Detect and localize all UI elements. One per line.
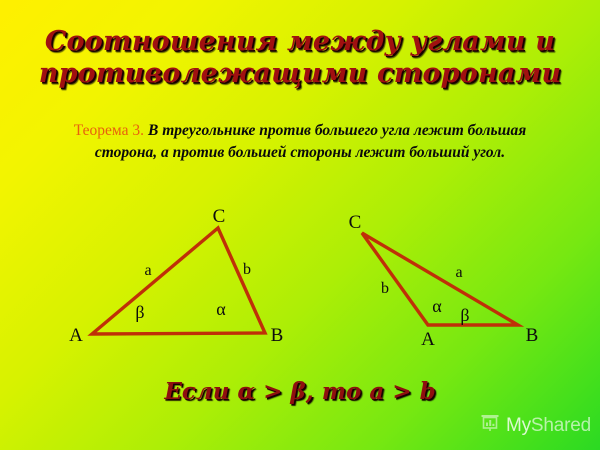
theorem-label: Теорема 3.: [74, 122, 144, 139]
myshared-watermark: MyShared: [480, 413, 591, 438]
triangle-right-side-a: a: [455, 264, 462, 281]
watermark-brand-prefix: My: [506, 415, 531, 436]
triangle-left-angle-alpha: α: [216, 299, 226, 319]
triangle-right-vertex-b: B: [526, 325, 539, 346]
triangle-left-shape: [92, 228, 265, 334]
page-title: Соотношения между углами и противолежащи…: [0, 26, 600, 90]
watermark-brand: MyShared: [506, 415, 591, 437]
triangle-left-angle-beta: β: [135, 302, 144, 322]
title-line-1: Соотношения между углами и: [0, 26, 600, 58]
triangle-left-side-a: a: [144, 262, 151, 279]
triangle-left-vertex-c: C: [213, 206, 226, 227]
triangle-left-vertex-b: B: [271, 325, 284, 346]
triangle-left-vertex-a: A: [69, 325, 83, 346]
triangle-left-side-b: b: [243, 261, 251, 278]
conclusion-text: Если α > β, то a > b: [164, 378, 435, 405]
conclusion-line: Если α > β, то a > b: [0, 378, 600, 405]
watermark-brand-suffix: Shared: [531, 415, 591, 436]
triangle-left: A B C a b β α: [69, 206, 283, 346]
triangle-right-vertex-c: C: [349, 212, 362, 233]
triangle-right-angle-alpha: α: [432, 296, 442, 316]
presentation-slide: Соотношения между углами и противолежащи…: [0, 0, 600, 450]
triangle-right: C A B a b α β: [349, 212, 539, 350]
theorem-body: В треугольнике против большего угла лежи…: [95, 122, 526, 161]
presentation-chart-icon: [480, 413, 500, 438]
triangle-right-vertex-a: A: [421, 329, 435, 350]
triangle-right-angle-beta: β: [460, 305, 469, 325]
triangle-right-side-b: b: [381, 280, 389, 297]
title-line-2: противолежащими сторонами: [0, 58, 600, 90]
theorem-statement: Теорема 3. В треугольнике против большег…: [62, 120, 538, 163]
triangle-diagrams: A B C a b β α C A B a b α β: [0, 200, 600, 365]
